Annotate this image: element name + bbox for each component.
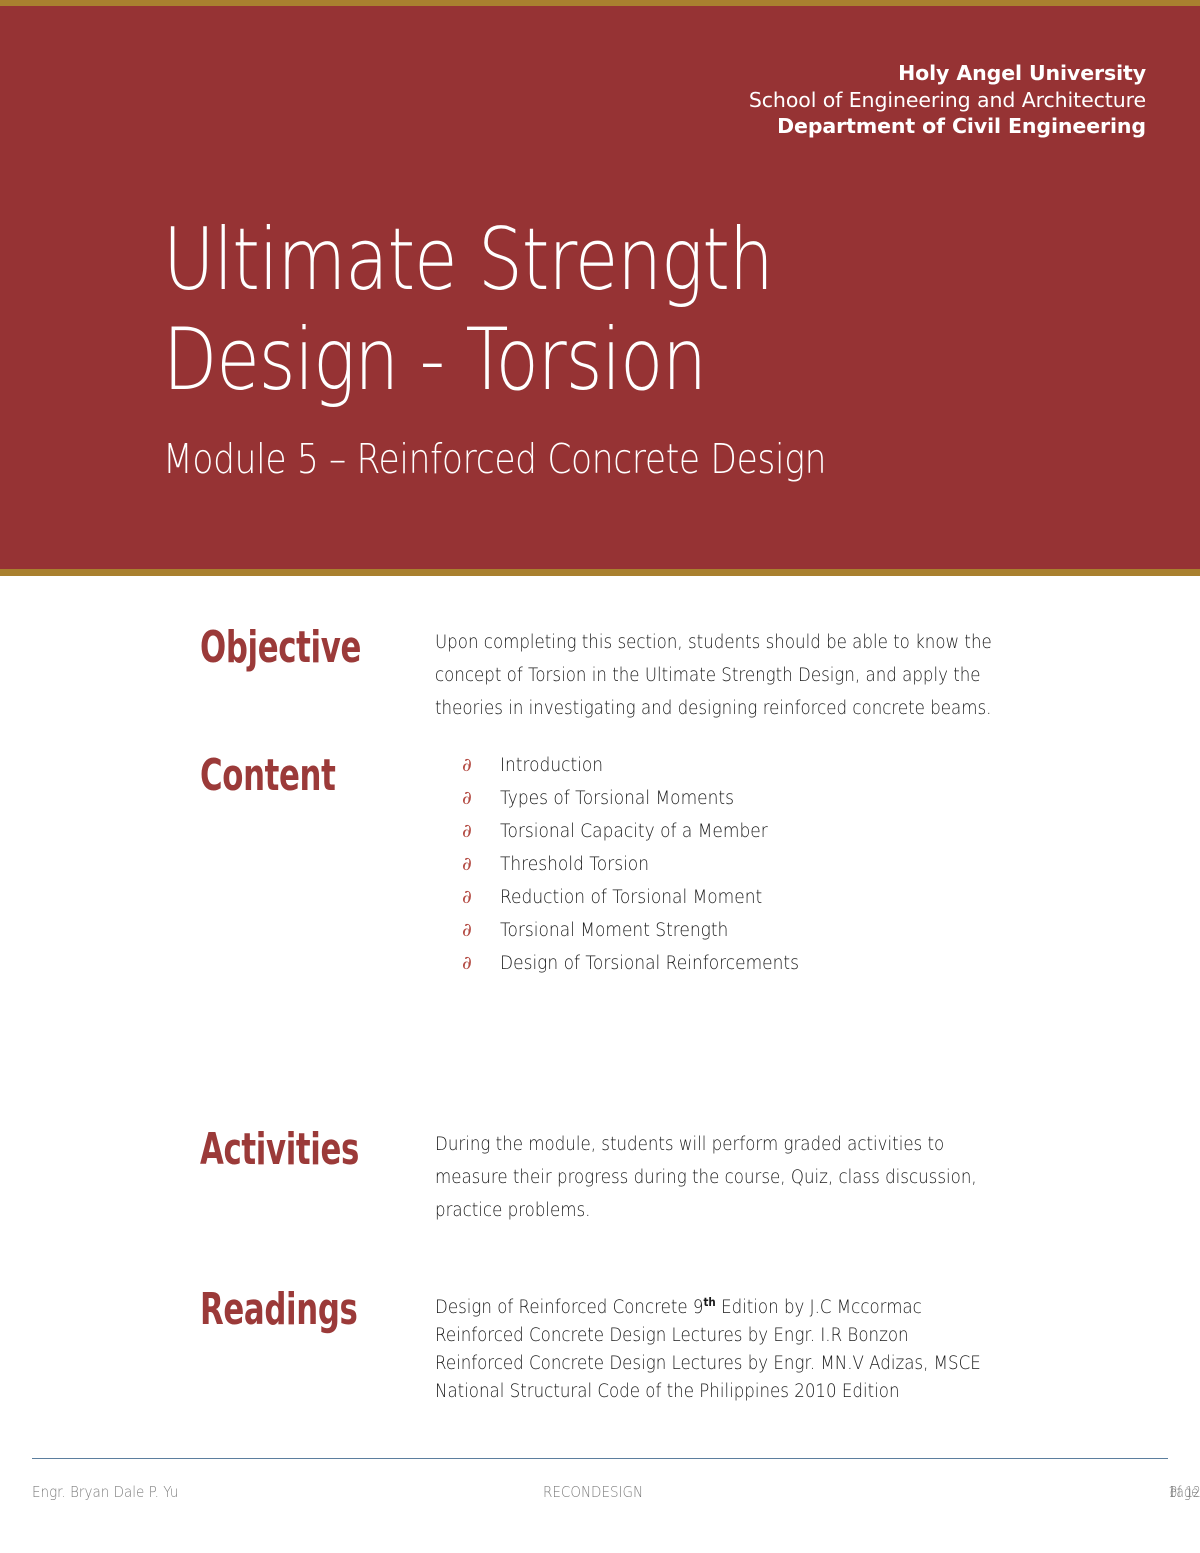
document-title-line-1: Ultimate Strength <box>163 211 810 311</box>
content-list-item-label: Reduction of Torsional Moment <box>500 887 762 908</box>
content-list-item: ∂Reduction of Torsional Moment <box>462 886 825 919</box>
content-list-item-label: Threshold Torsion <box>500 854 649 875</box>
content-bullet-list: ∂Introduction∂Types of Torsional Moments… <box>462 754 825 985</box>
department-name: Department of Civil Engineering <box>749 113 1146 140</box>
content-list-item-label: Torsional Capacity of a Member <box>500 821 768 842</box>
page-footer: Engr. Bryan Dale P. Yu RECONDESIGN Page … <box>0 1483 1200 1513</box>
section-heading-activities: Activities <box>200 1128 359 1172</box>
reading-entry-text: Reinforced Concrete Design Lectures by E… <box>435 1353 981 1374</box>
content-list-item-label: Types of Torsional Moments <box>500 788 734 809</box>
organization-block: Holy Angel University School of Engineer… <box>749 60 1146 140</box>
content-list-item-label: Design of Torsional Reinforcements <box>500 953 799 974</box>
partial-derivative-bullet-icon: ∂ <box>462 886 500 908</box>
reading-entry-superscript: th <box>703 1295 715 1309</box>
document-title-line-2: Design - Torsion <box>163 311 810 411</box>
reading-entry-text: Design of Reinforced Concrete 9 <box>435 1297 703 1318</box>
header-banner: Holy Angel University School of Engineer… <box>0 0 1200 576</box>
reading-entry-text-suffix: Edition by J.C Mccormac <box>716 1297 922 1318</box>
section-body-readings: Design of Reinforced Concrete 9th Editio… <box>435 1288 1011 1406</box>
reading-entry: Reinforced Concrete Design Lectures by E… <box>435 1350 1011 1378</box>
footer-divider <box>32 1458 1168 1459</box>
content-list-item-label: Torsional Moment Strength <box>500 920 728 941</box>
section-body-objective: Upon completing this section, students s… <box>435 626 1011 725</box>
partial-derivative-bullet-icon: ∂ <box>462 853 500 875</box>
reading-entry: Reinforced Concrete Design Lectures by E… <box>435 1322 1011 1350</box>
school-name: School of Engineering and Architecture <box>749 87 1146 114</box>
section-heading-objective: Objective <box>200 626 361 670</box>
footer-author: Engr. Bryan Dale P. Yu <box>32 1483 178 1501</box>
section-body-activities: During the module, students will perform… <box>435 1128 1011 1227</box>
content-list-item: ∂Threshold Torsion <box>462 853 825 886</box>
partial-derivative-bullet-icon: ∂ <box>462 754 500 776</box>
content-list-item: ∂Design of Torsional Reinforcements <box>462 952 825 985</box>
partial-derivative-bullet-icon: ∂ <box>462 787 500 809</box>
reading-entry: National Structural Code of the Philippi… <box>435 1378 1011 1406</box>
content-list-item: ∂Types of Torsional Moments <box>462 787 825 820</box>
content-list-item: ∂Torsional Moment Strength <box>462 919 825 952</box>
title-block: Ultimate Strength Design - Torsion Modul… <box>163 211 952 483</box>
partial-derivative-bullet-icon: ∂ <box>462 952 500 974</box>
partial-derivative-bullet-icon: ∂ <box>462 820 500 842</box>
section-heading-readings: Readings <box>200 1288 358 1332</box>
document-subtitle: Module 5 – Reinforced Concrete Design <box>163 435 826 483</box>
reading-entry-text: National Structural Code of the Philippi… <box>435 1381 900 1402</box>
section-heading-content: Content <box>200 754 336 798</box>
footer-page-suffix: of 12 <box>1170 1483 1200 1501</box>
content-list-item-label: Introduction <box>500 755 603 776</box>
objective-paragraph: Upon completing this section, students s… <box>435 626 1011 725</box>
partial-derivative-bullet-icon: ∂ <box>462 919 500 941</box>
activities-paragraph: During the module, students will perform… <box>435 1128 1011 1227</box>
content-list-item: ∂Introduction <box>462 754 825 787</box>
content-list-item: ∂Torsional Capacity of a Member <box>462 820 825 853</box>
footer-course-code: RECONDESIGN <box>543 1483 643 1501</box>
university-name: Holy Angel University <box>749 60 1146 87</box>
reading-entry-text: Reinforced Concrete Design Lectures by E… <box>435 1325 909 1346</box>
reading-entry: Design of Reinforced Concrete 9th Editio… <box>435 1288 1011 1322</box>
